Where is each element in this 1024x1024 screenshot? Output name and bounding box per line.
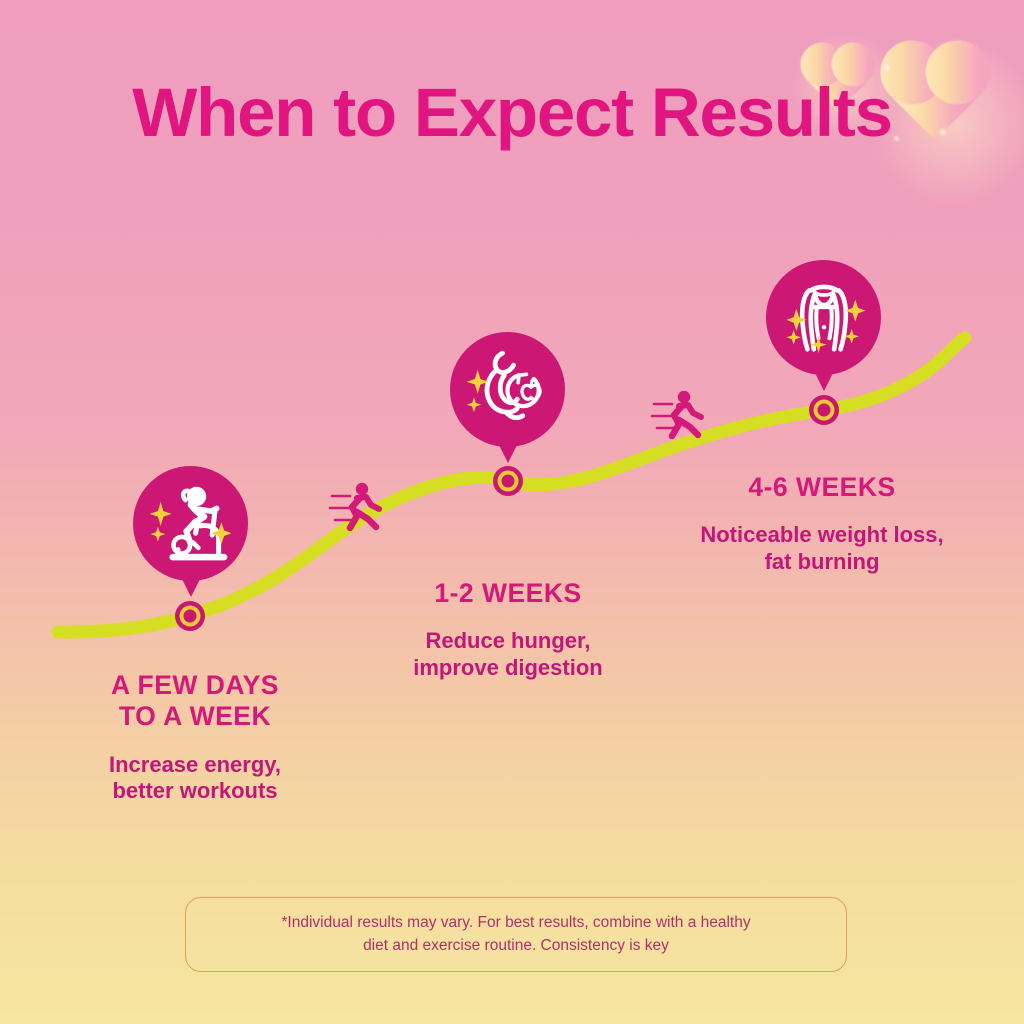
page-title: When to Expect Results [0, 78, 1024, 147]
disclaimer-text: *Individual results may vary. For best r… [255, 912, 776, 957]
milestone-label-1: A FEW DAYS TO A WEEK Increase energy, be… [40, 670, 350, 804]
milestone-marker-3[interactable] [809, 395, 839, 425]
milestone-2-description: Reduce hunger, improve digestion [363, 628, 653, 681]
milestone-2-heading: 1-2 WEEKS [363, 578, 653, 609]
milestone-1-heading: A FEW DAYS TO A WEEK [40, 670, 350, 733]
milestone-label-3: 4-6 WEEKS Noticeable weight loss, fat bu… [672, 472, 972, 575]
infographic-poster: When to Expect Results [0, 0, 1024, 1024]
milestone-marker-2[interactable] [493, 466, 523, 496]
milestone-label-2: 1-2 WEEKS Reduce hunger, improve digesti… [363, 578, 653, 681]
milestone-3-description: Noticeable weight loss, fat burning [672, 522, 972, 575]
milestone-1-description: Increase energy, better workouts [40, 752, 350, 805]
milestone-marker-1[interactable] [175, 601, 205, 631]
disclaimer-box: *Individual results may vary. For best r… [185, 897, 847, 972]
milestone-3-heading: 4-6 WEEKS [672, 472, 972, 503]
